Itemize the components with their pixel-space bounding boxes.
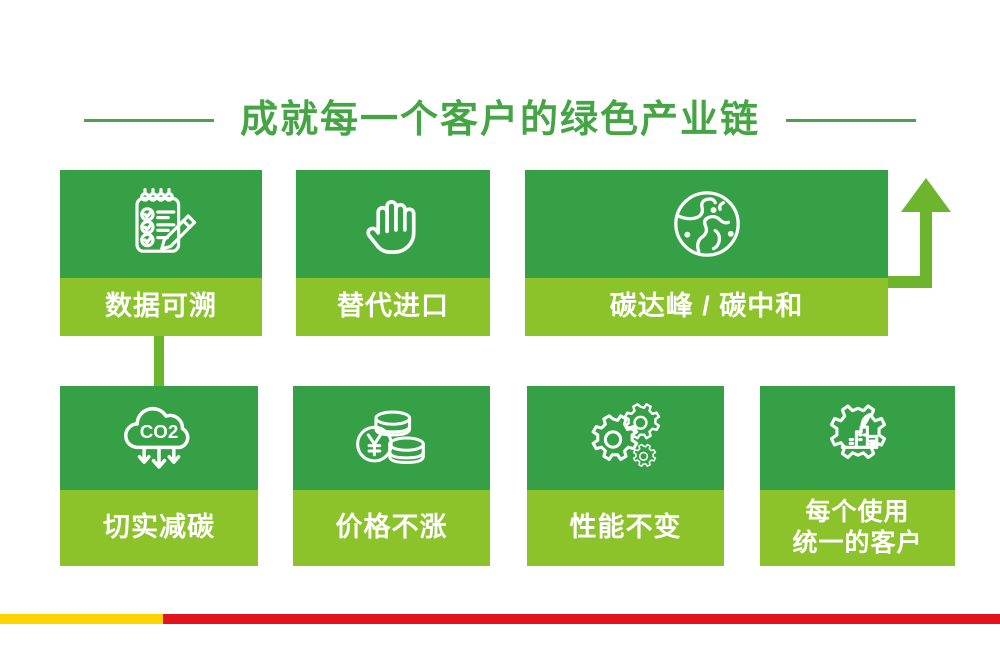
- title-rule-left: [84, 119, 214, 122]
- title-row: 成就每一个客户的绿色产业链: [0, 90, 1000, 150]
- page-title: 成就每一个客户的绿色产业链: [240, 101, 760, 139]
- card-label-line2: 统一的客户: [792, 528, 922, 559]
- gears-icon: [527, 386, 724, 490]
- vertical-connector-left: [154, 336, 164, 386]
- card-label-line1: 每个使用: [792, 497, 922, 528]
- card-import-substitution[interactable]: 替代进口: [296, 170, 490, 336]
- co2-cloud-arrows-icon: CO2: [60, 386, 258, 490]
- card-label: 碳达峰 / 碳中和: [525, 278, 888, 336]
- card-label: 价格不涨: [293, 490, 490, 566]
- card-unified-customer[interactable]: 每个使用 统一的客户: [760, 386, 955, 566]
- card-data-traceable[interactable]: 数据可溯: [60, 170, 262, 336]
- card-label: 数据可溯: [60, 278, 262, 336]
- card-performance-unchanged[interactable]: 性能不变: [527, 386, 724, 566]
- hand-stop-icon: [296, 170, 490, 278]
- arrow-vertical-stem: [920, 212, 932, 284]
- coins-yen-icon: [293, 386, 490, 490]
- card-carbon-reduction[interactable]: CO2 切实减碳: [60, 386, 258, 566]
- svg-text:CO2: CO2: [140, 421, 179, 442]
- card-label: 性能不变: [527, 490, 724, 566]
- title-rule-right: [786, 119, 916, 122]
- card-carbon-peak-neutrality[interactable]: 碳达峰 / 碳中和: [525, 170, 888, 336]
- bottom-bar-yellow: [0, 614, 163, 624]
- card-label: 切实减碳: [60, 490, 258, 566]
- card-label: 每个使用 统一的客户: [760, 490, 955, 566]
- gear-factory-eco-icon: [760, 386, 955, 490]
- clipboard-checklist-pencil-icon: [60, 170, 262, 278]
- poster-canvas: 成就每一个客户的绿色产业链 数据可: [0, 0, 1000, 666]
- card-label: 替代进口: [296, 278, 490, 336]
- globe-earth-icon: [525, 170, 888, 278]
- bottom-bar-red: [163, 614, 1000, 624]
- card-price-stable[interactable]: 价格不涨: [293, 386, 490, 566]
- arrow-head-icon: [901, 178, 951, 212]
